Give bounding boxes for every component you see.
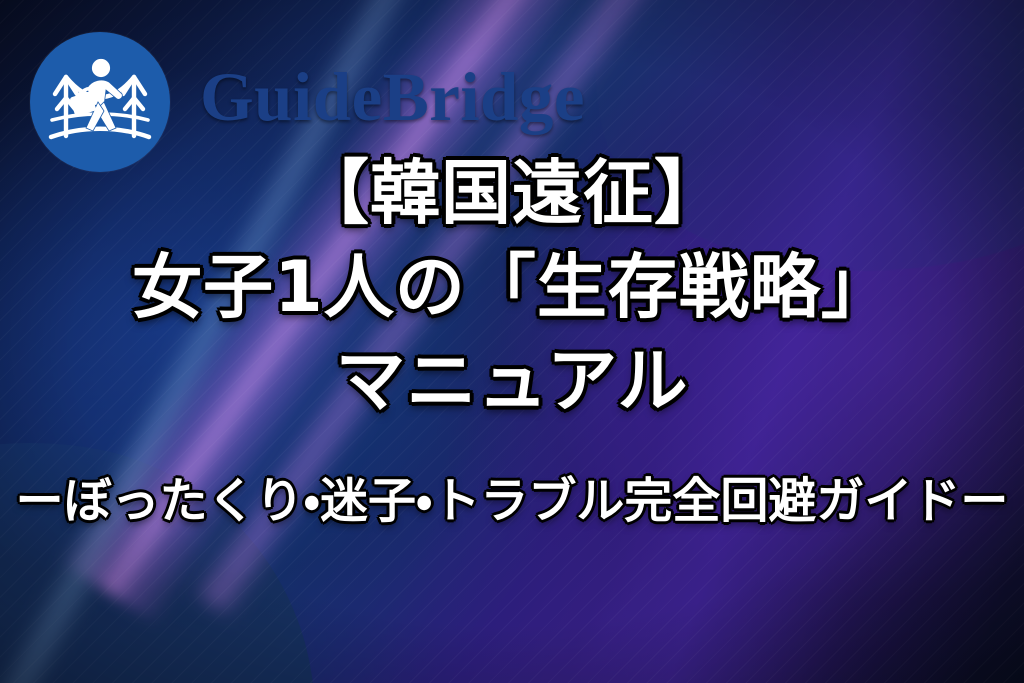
title-block: 【韓国遠征】 女子1人の「生存戦略」 マニュアル ーぼったくり・迷子・トラブル完… (0, 146, 1024, 532)
thumbnail-canvas: GuideBridge 【韓国遠征】 女子1人の「生存戦略」 マニュアル ーぼっ… (0, 0, 1024, 683)
title-line-2: 女子1人の「生存戦略」 (0, 240, 1024, 334)
title-subtitle: ーぼったくり・迷子・トラブル完全回避ガイドー (0, 470, 1024, 532)
title-line-1: 【韓国遠征】 (0, 146, 1024, 240)
brand-wordmark: GuideBridge (200, 63, 585, 132)
title-line-3: マニュアル (0, 334, 1024, 428)
